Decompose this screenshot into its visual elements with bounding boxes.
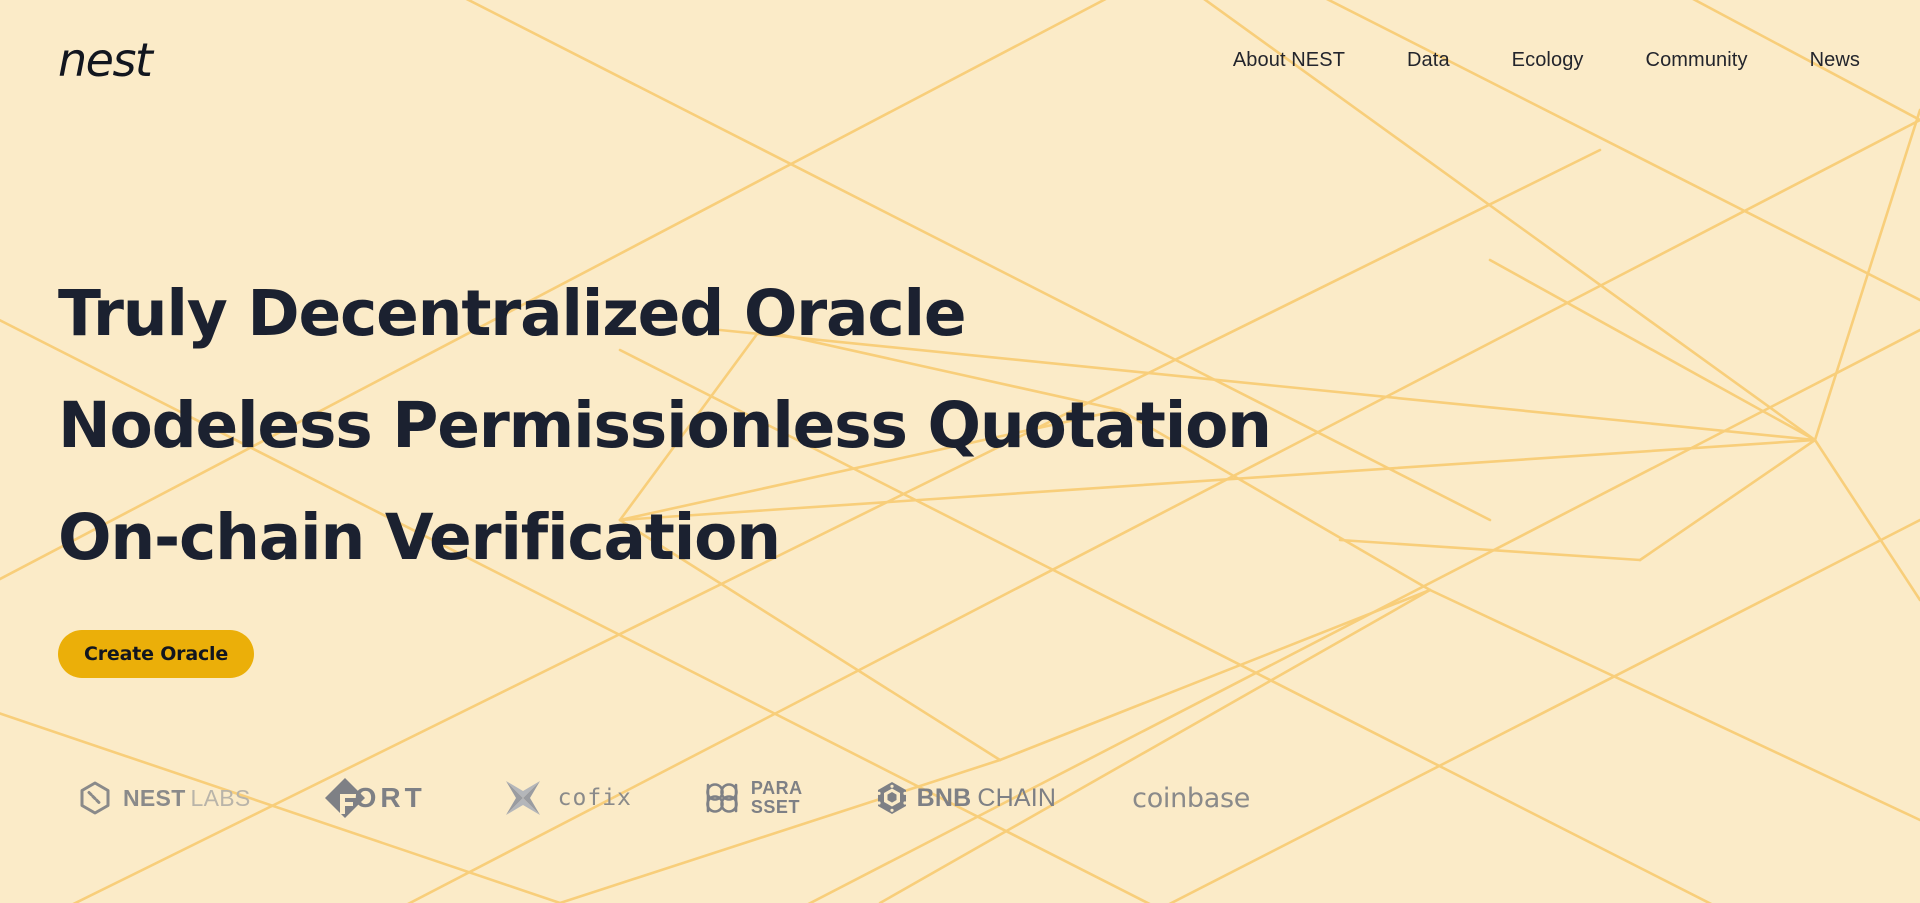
nav-link-community[interactable]: Community bbox=[1646, 39, 1748, 82]
bnb-chain-label-light: CHAIN bbox=[977, 784, 1056, 812]
partner-logo-nest-labs[interactable]: NESTLABS bbox=[78, 772, 251, 824]
partner-logo-bnb-chain[interactable]: BNBCHAIN bbox=[875, 772, 1057, 824]
bnb-chain-cube-icon bbox=[875, 781, 909, 815]
nav-link-ecology[interactable]: Ecology bbox=[1512, 39, 1584, 82]
nest-labs-label-light: LABS bbox=[191, 785, 251, 811]
fort-label: ORT bbox=[355, 784, 426, 812]
partner-logo-parasset[interactable]: PARA SSET bbox=[702, 772, 803, 824]
bnb-chain-label-strong: BNB bbox=[917, 784, 972, 812]
hero-headline: Truly Decentralized Oracle Nodeless Perm… bbox=[58, 258, 1271, 594]
hero-page: nest About NEST Data Ecology Community N… bbox=[0, 0, 1920, 903]
nest-labs-label-strong: NEST bbox=[123, 785, 186, 811]
hero-section: Truly Decentralized Oracle Nodeless Perm… bbox=[58, 258, 1271, 678]
partner-logo-strip: NESTLABS ORT cofix bbox=[78, 772, 1250, 824]
hero-headline-line-1: Truly Decentralized Oracle bbox=[58, 258, 1271, 370]
bnb-chain-label: BNBCHAIN bbox=[917, 786, 1057, 811]
nest-labs-label: NESTLABS bbox=[123, 787, 251, 810]
partner-logo-fort[interactable]: ORT bbox=[323, 772, 426, 824]
site-header: nest About NEST Data Ecology Community N… bbox=[0, 0, 1920, 120]
cofix-star-icon bbox=[504, 779, 542, 817]
hero-headline-line-3: On-chain Verification bbox=[58, 482, 1271, 594]
nest-labs-hex-icon bbox=[78, 780, 112, 816]
parasset-label-line-1: PARA bbox=[751, 778, 803, 798]
partner-logo-coinbase[interactable]: coinbase bbox=[1132, 772, 1250, 824]
parasset-circles-icon bbox=[702, 781, 742, 815]
parasset-label: PARA SSET bbox=[751, 779, 803, 817]
nav-link-news[interactable]: News bbox=[1810, 39, 1860, 82]
hero-cta-container: Create Oracle bbox=[58, 630, 1271, 678]
partner-logo-cofix[interactable]: cofix bbox=[504, 772, 632, 824]
main-navigation: About NEST Data Ecology Community News bbox=[1233, 39, 1860, 82]
cofix-label: cofix bbox=[558, 787, 632, 810]
nav-link-data[interactable]: Data bbox=[1407, 39, 1450, 82]
nav-link-about-nest[interactable]: About NEST bbox=[1233, 39, 1345, 82]
hero-headline-line-2: Nodeless Permissionless Quotation bbox=[58, 370, 1271, 482]
create-oracle-button[interactable]: Create Oracle bbox=[58, 630, 254, 678]
nest-wordmark-logo[interactable]: nest bbox=[58, 37, 151, 83]
coinbase-label: coinbase bbox=[1132, 785, 1250, 812]
parasset-label-line-2: SSET bbox=[751, 798, 803, 817]
